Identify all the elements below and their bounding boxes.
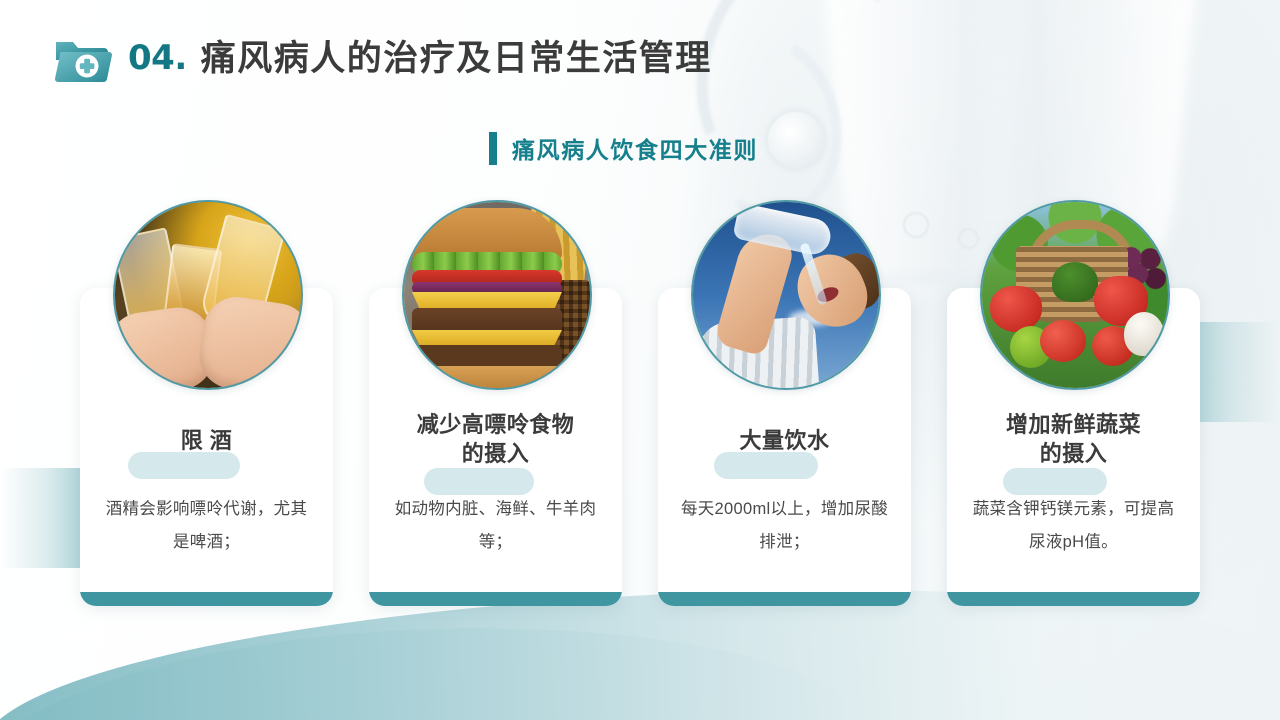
- card-footer-bar: [80, 592, 333, 606]
- drinking-water-photo: [691, 200, 881, 390]
- alcohol-toast-photo: [113, 200, 303, 390]
- card-body-text: 蔬菜含钾钙镁元素，可提高尿液pH值。: [965, 493, 1182, 559]
- card-body-text: 每天2000ml以上，增加尿酸排泄；: [676, 493, 893, 559]
- card-footer-bar: [658, 592, 911, 606]
- title-highlight-pill: [714, 452, 818, 479]
- card-footer-bar: [369, 592, 622, 606]
- card-body-text: 酒精会影响嘌呤代谢，尤其是啤酒；: [98, 493, 315, 559]
- card-title: 增加新鲜蔬菜 的摄入: [947, 410, 1200, 469]
- card-footer-bar: [947, 592, 1200, 606]
- card-title: 减少高嘌呤食物 的摄入: [369, 410, 622, 469]
- title-highlight-pill: [424, 468, 534, 495]
- slide-root: 04. 痛风病人的治疗及日常生活管理 痛风病人饮食四大准则 限 酒 酒精会影响嘌…: [0, 0, 1280, 720]
- burger-fries-photo: [402, 200, 592, 390]
- title-highlight-pill: [128, 452, 240, 479]
- card-title: 大量饮水: [658, 426, 911, 455]
- title-highlight-pill: [1003, 468, 1107, 495]
- card-body-text: 如动物内脏、海鲜、牛羊肉等；: [387, 493, 604, 559]
- vegetable-basket-photo: [980, 200, 1170, 390]
- card-title: 限 酒: [80, 426, 333, 455]
- cards-container: 限 酒 酒精会影响嘌呤代谢，尤其是啤酒； 减少高嘌呤食物 的摄入 如动物内脏、海…: [0, 0, 1280, 720]
